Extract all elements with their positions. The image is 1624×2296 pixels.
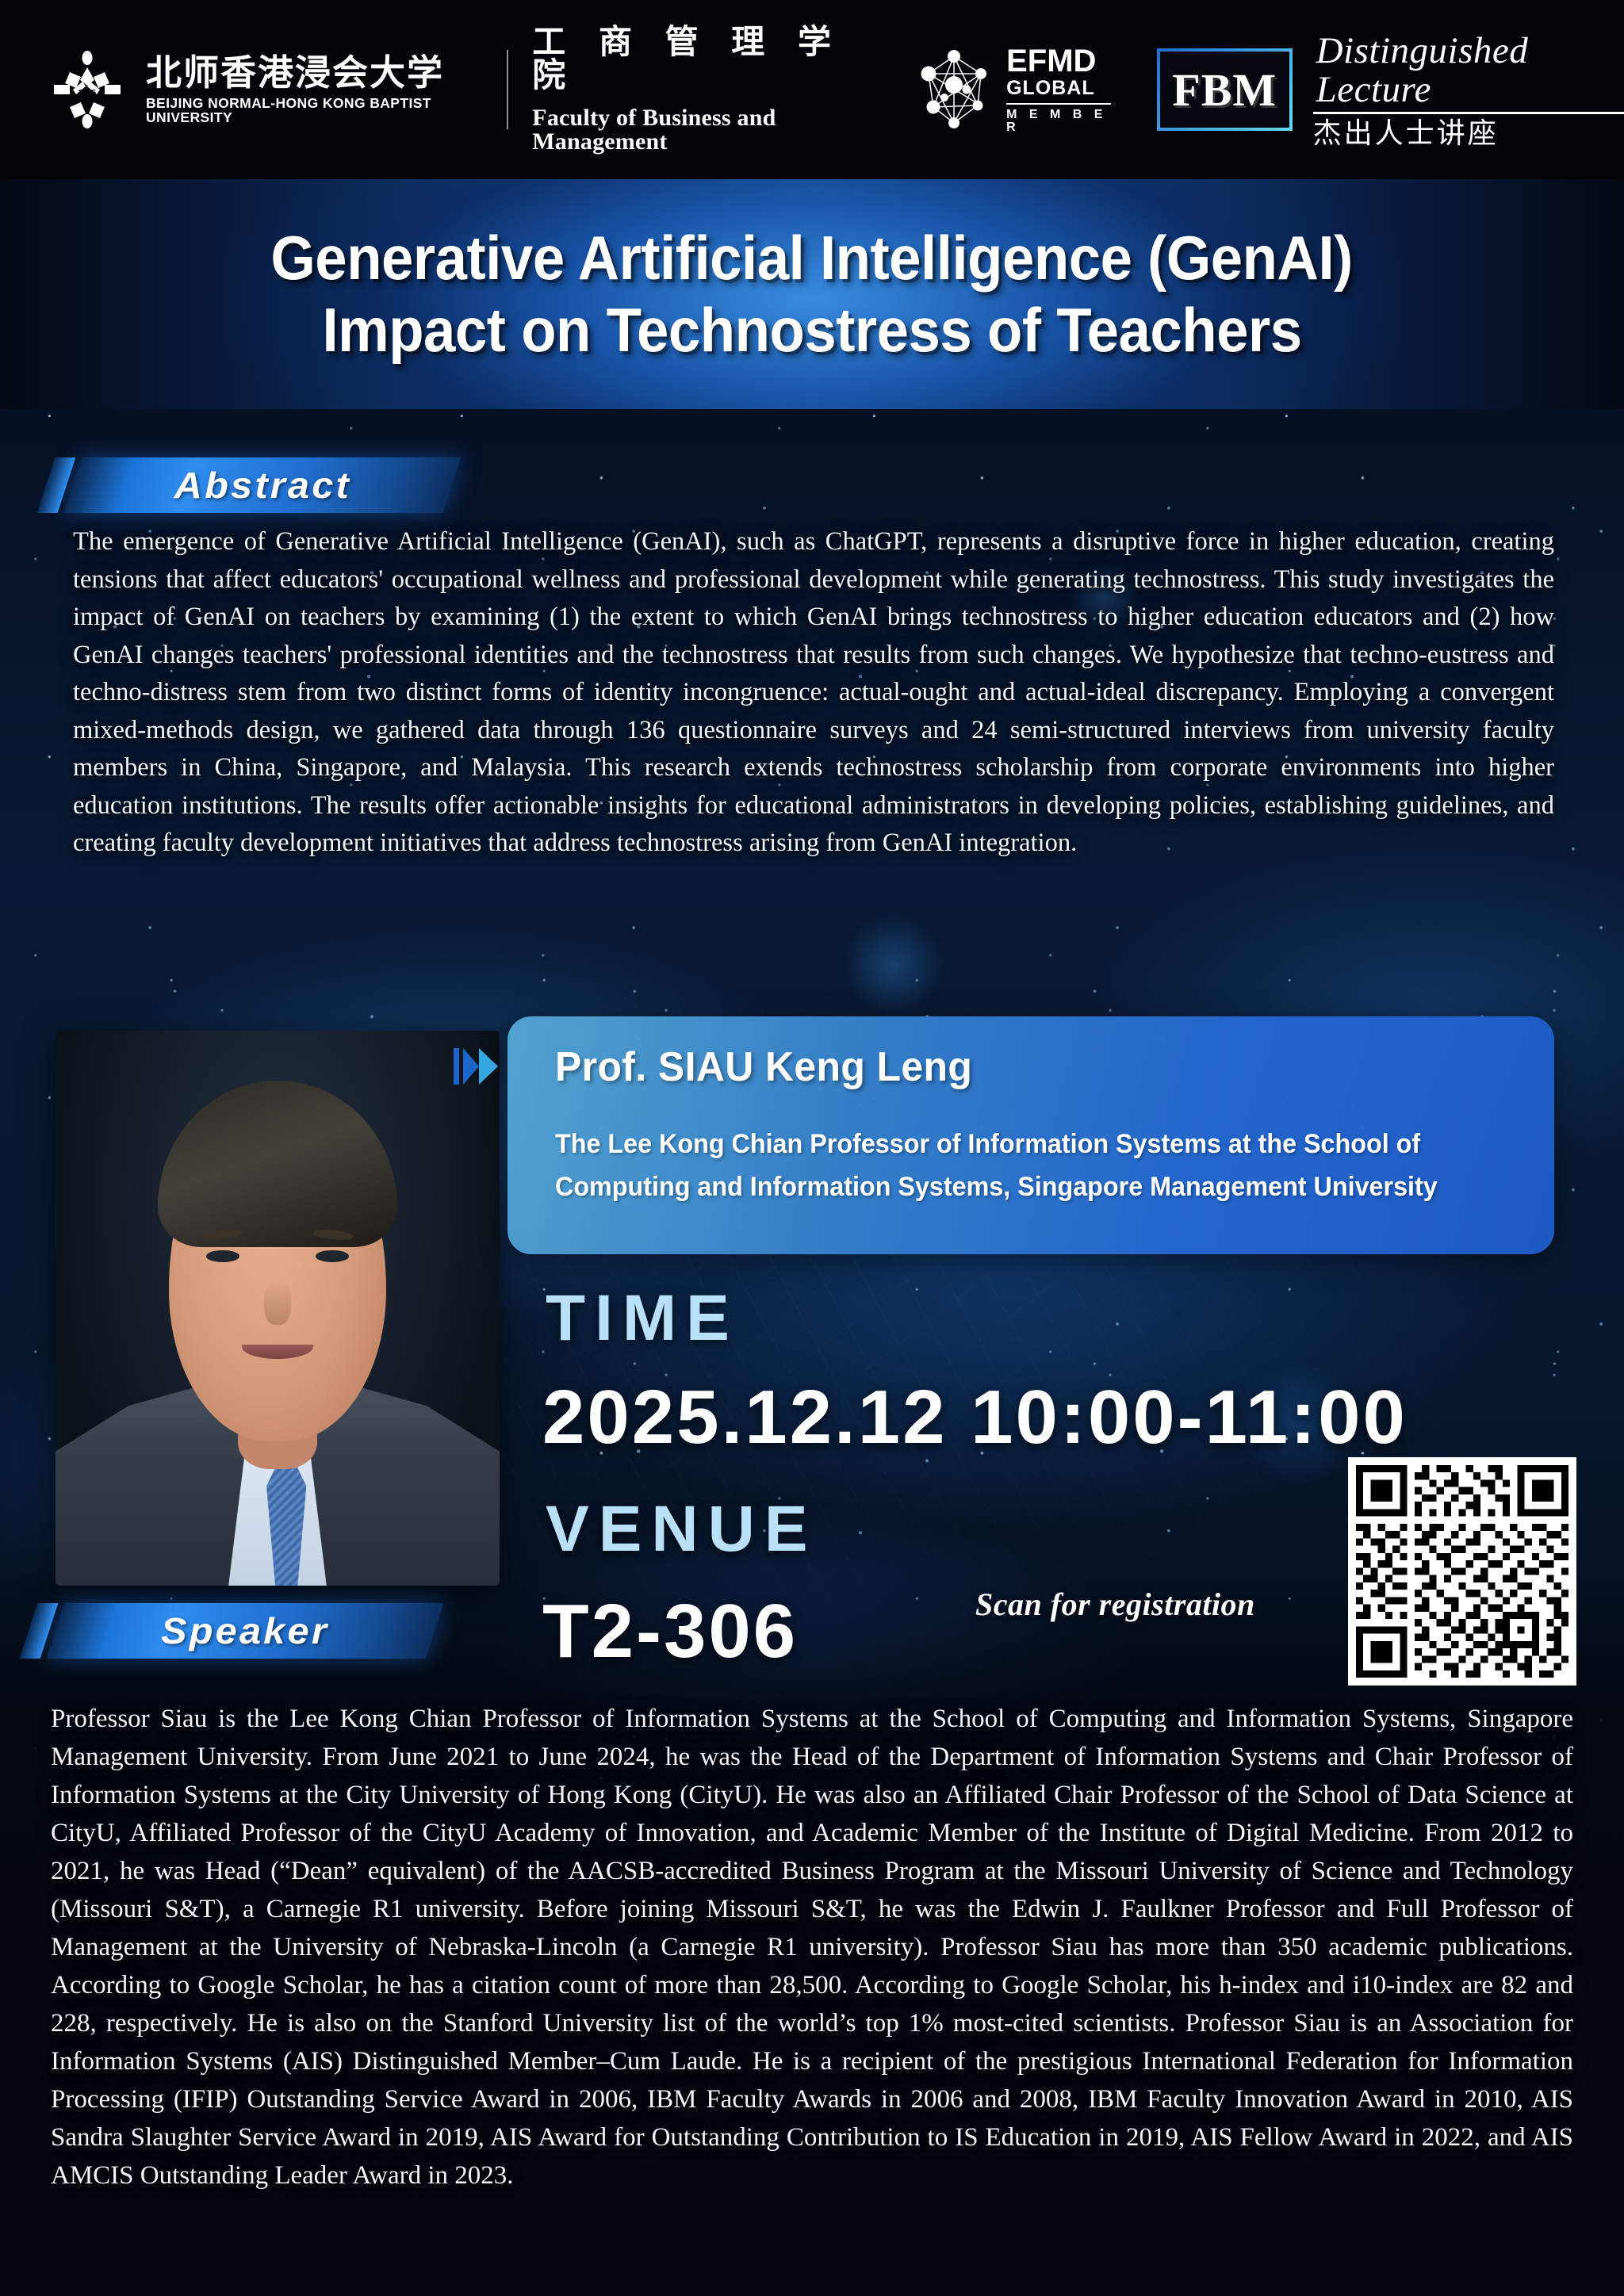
- university-name-en: BEIJING NORMAL-HONG KONG BAPTIST UNIVERS…: [146, 97, 483, 124]
- venue-label: VENUE: [546, 1497, 818, 1562]
- abstract-badge-label: Abstract: [174, 464, 350, 507]
- speaker-affiliation: The Lee Kong Chian Professor of Informat…: [555, 1123, 1469, 1208]
- series-title-block: Distinguished Lecture 杰出人士讲座: [1313, 32, 1624, 148]
- university-name-cn: 北师香港浸会大学: [146, 55, 483, 90]
- speaker-bio-text: Professor Siau is the Lee Kong Chian Pro…: [51, 1700, 1573, 2195]
- lecture-title-line-1: Generative Artificial Intelligence (GenA…: [271, 222, 1353, 294]
- series-title-rule: [1313, 112, 1624, 114]
- faculty-names: 工 商 管 理 学 院 Faculty of Business and Mana…: [532, 25, 886, 154]
- efmd-wordmark: EFMD GLOBAL M E M B E R: [1006, 45, 1111, 134]
- photo-eye-right: [316, 1250, 349, 1262]
- university-logo-block: 2005 北师香港浸会大学 BEIJING NORMAL-HONG KONG B…: [46, 48, 483, 131]
- speaker-photo: Portrait of Prof. SIAU Keng Leng: [56, 1031, 500, 1586]
- abstract-section-badge: Abstract: [73, 457, 452, 513]
- efmd-rule: [1006, 103, 1111, 105]
- fbm-logo-box: FBM: [1157, 48, 1293, 131]
- speaker-name: Prof. SIAU Keng Leng: [555, 1043, 1479, 1091]
- speaker-info-card: Prof. SIAU Keng Leng The Lee Kong Chian …: [507, 1016, 1554, 1254]
- faculty-name-cn: 工 商 管 理 学 院: [532, 25, 886, 92]
- registration-qr-code[interactable]: [1348, 1457, 1576, 1686]
- lecture-title-line-2: Impact on Technostress of Teachers: [322, 294, 1301, 366]
- speaker-badge-label: Speaker: [161, 1609, 329, 1652]
- university-names: 北师香港浸会大学 BEIJING NORMAL-HONG KONG BAPTIS…: [146, 55, 483, 124]
- photo-eye-left: [206, 1250, 239, 1262]
- university-emblem-icon: 2005: [46, 48, 128, 131]
- efmd-network-icon: [913, 48, 995, 131]
- fbm-logo-text: FBM: [1172, 63, 1277, 117]
- poster-header: 2005 北师香港浸会大学 BEIJING NORMAL-HONG KONG B…: [0, 0, 1624, 179]
- photo-nose: [264, 1280, 291, 1325]
- efmd-line-3: M E M B E R: [1006, 109, 1111, 134]
- speaker-section-badge: Speaker: [56, 1603, 435, 1659]
- venue-value: T2-306: [542, 1594, 798, 1670]
- abstract-body-text: The emergence of Generative Artificial I…: [73, 523, 1554, 863]
- faculty-name-en: Faculty of Business and Management: [532, 106, 886, 154]
- series-title-en: Distinguished Lecture: [1313, 32, 1624, 110]
- poster-canvas: 2005 北师香港浸会大学 BEIJING NORMAL-HONG KONG B…: [0, 0, 1624, 2296]
- efmd-accreditation-logo: EFMD GLOBAL M E M B E R: [913, 45, 1111, 134]
- scan-for-registration-caption: Scan for registration: [975, 1586, 1255, 1623]
- efmd-line-1: EFMD: [1006, 45, 1111, 77]
- svg-text:2005: 2005: [79, 89, 97, 98]
- time-label: TIME: [546, 1286, 739, 1351]
- lecture-series-branding: FBM Distinguished Lecture 杰出人士讲座: [1157, 32, 1624, 148]
- lecture-title-band: Generative Artificial Intelligence (GenA…: [0, 179, 1624, 409]
- series-title-cn: 杰出人士讲座: [1313, 119, 1624, 147]
- time-value: 2025.12.12 10:00-11:00: [542, 1380, 1408, 1456]
- header-divider-1: [507, 50, 508, 129]
- chevron-right-icon: [452, 1039, 504, 1094]
- efmd-line-2: GLOBAL: [1006, 78, 1111, 98]
